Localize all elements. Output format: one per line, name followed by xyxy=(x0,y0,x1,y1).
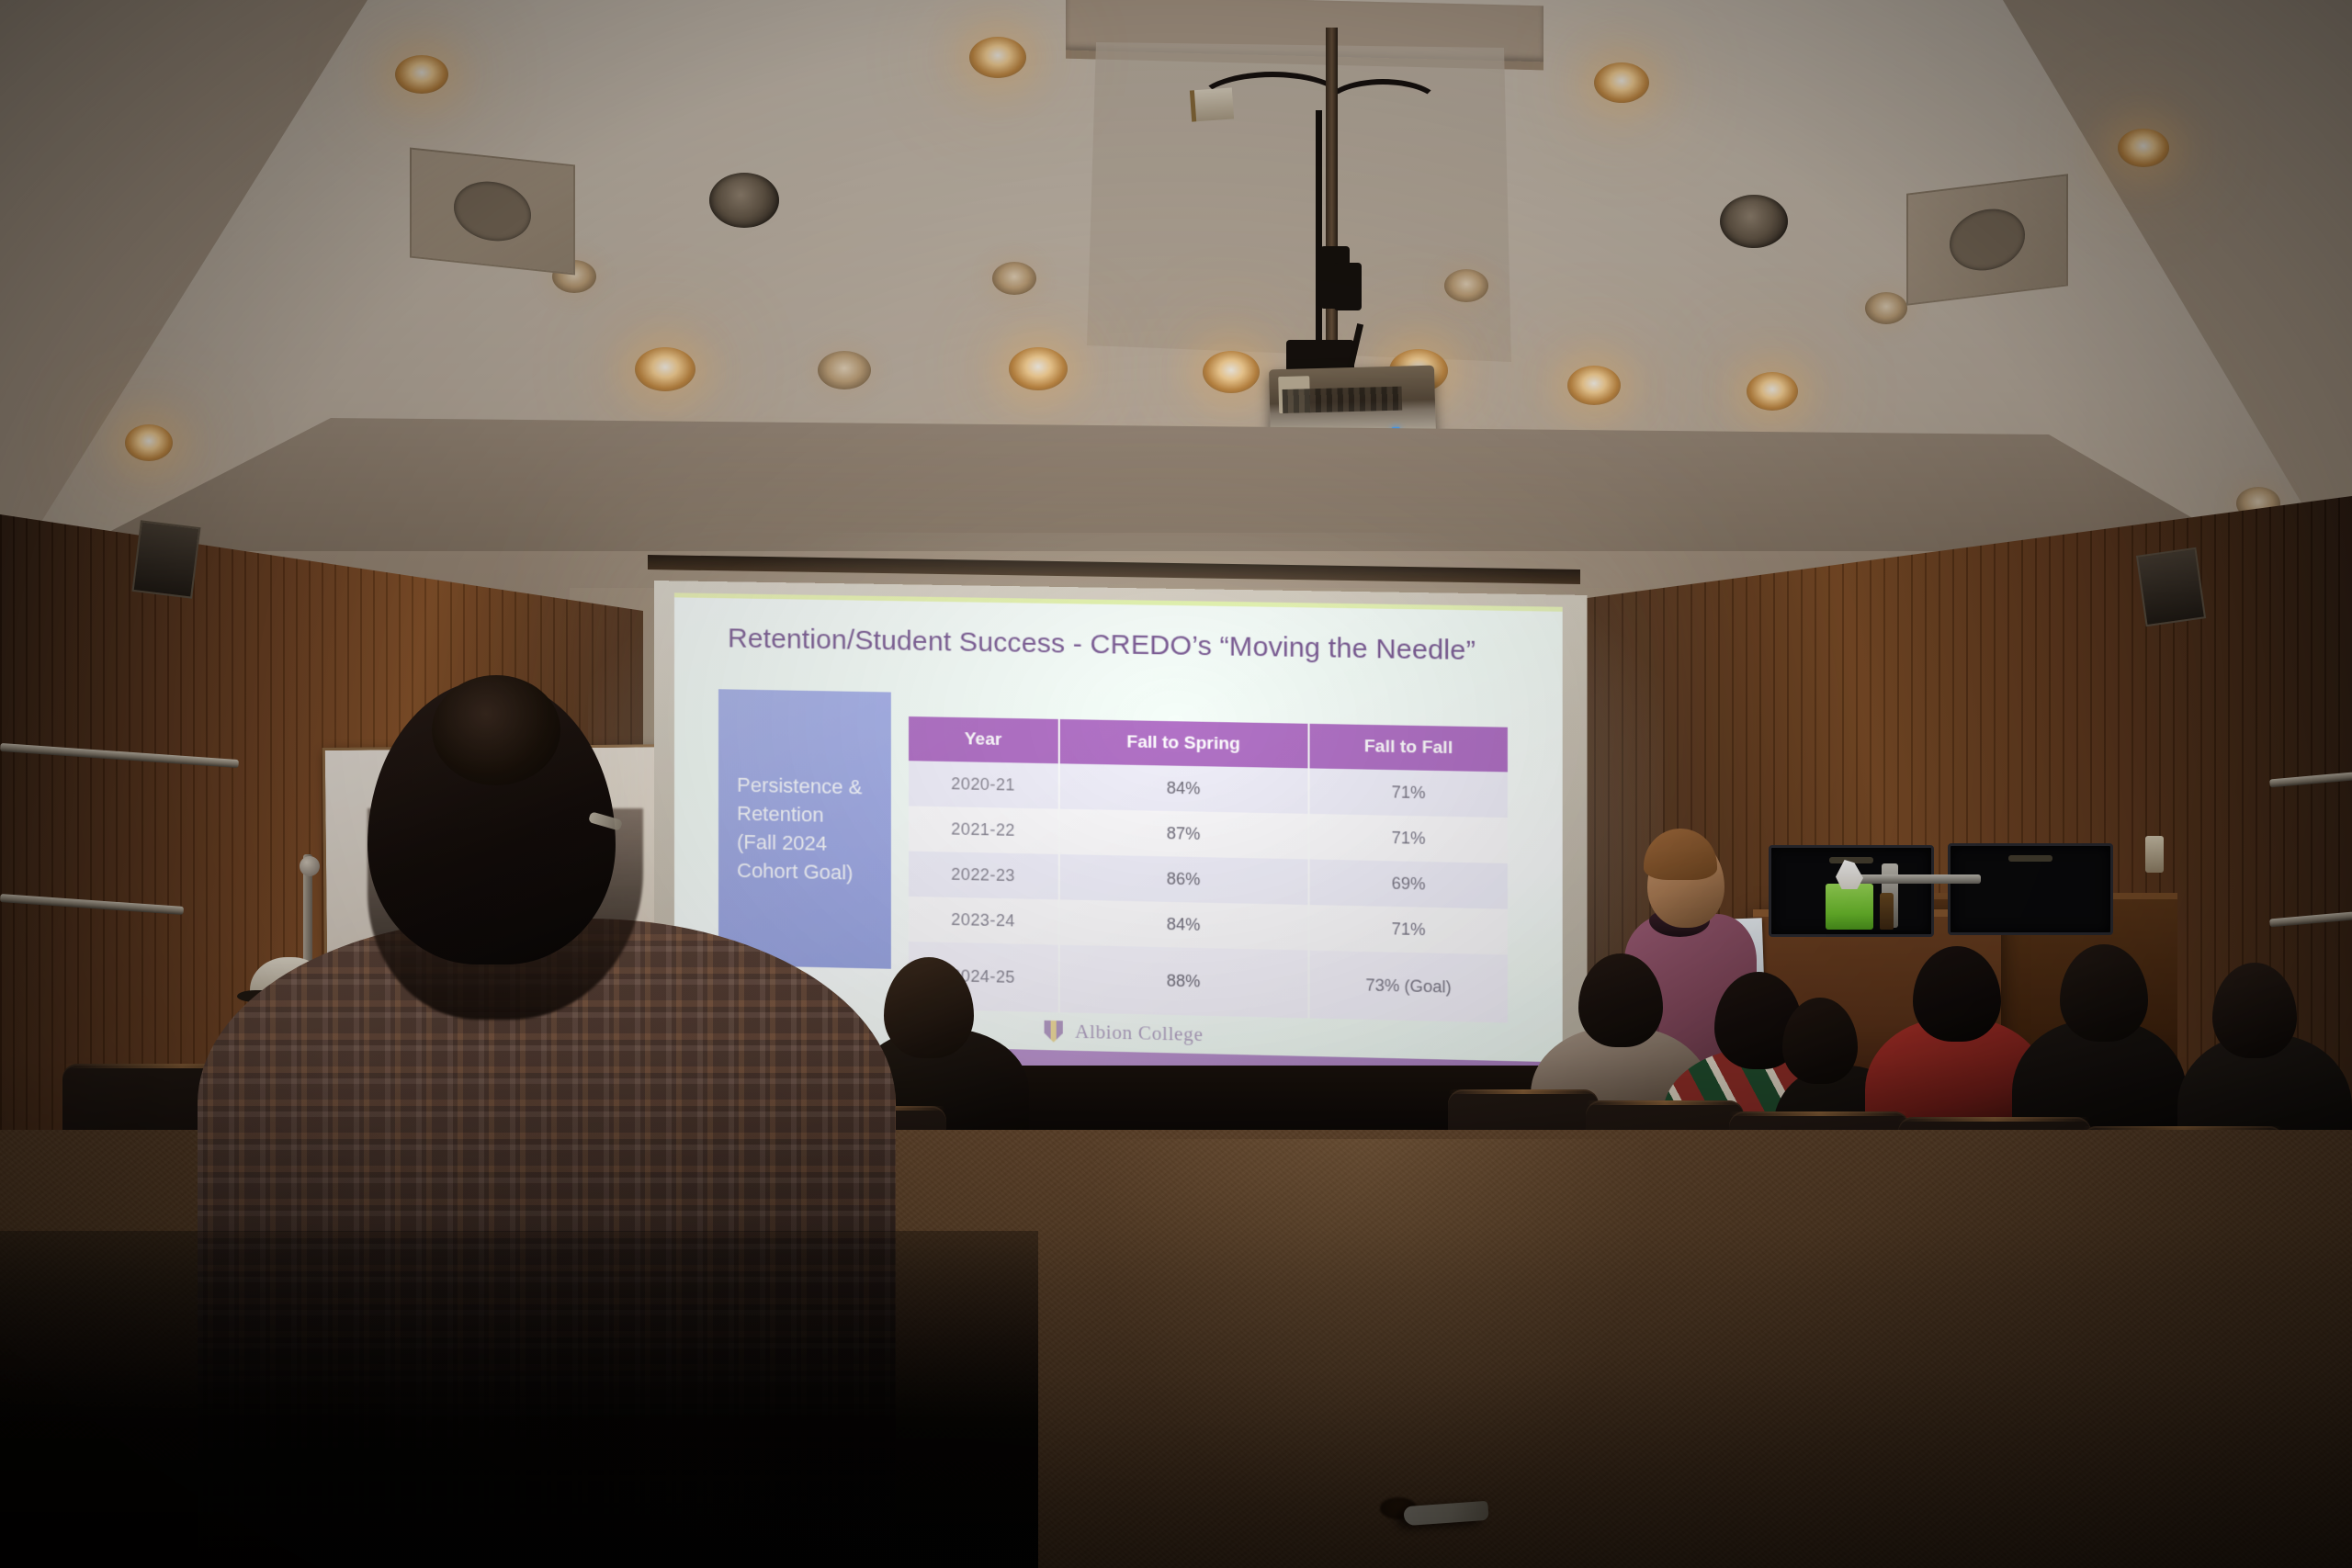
recessed-downlight xyxy=(969,37,1026,78)
slide-logo: Albion College xyxy=(1045,1020,1204,1046)
whiteboard-adjust-knob[interactable] xyxy=(300,856,320,876)
wall-light-switch[interactable] xyxy=(2145,836,2164,873)
cell-fall-to-fall: 71% xyxy=(1308,905,1508,954)
cell-year: 2022-23 xyxy=(909,852,1058,900)
foreground-person-hair-bun xyxy=(432,675,560,785)
cell-year: 2021-22 xyxy=(909,806,1058,854)
auditorium-scene: Retention/Student Success - CREDO’s “Mov… xyxy=(0,0,2352,1568)
side-panel-line-2: Retention xyxy=(737,799,862,830)
side-panel-line-4: Cohort Goal) xyxy=(737,856,862,887)
column-header-fall-to-spring: Fall to Spring xyxy=(1058,719,1308,768)
recessed-downlight xyxy=(1594,62,1649,103)
column-header-year: Year xyxy=(909,716,1058,763)
recessed-downlight xyxy=(395,55,448,94)
ceiling-speaker xyxy=(709,173,779,228)
side-panel-line-3: (Fall 2024 xyxy=(737,828,862,859)
recessed-downlight xyxy=(635,347,695,391)
ceiling-speaker xyxy=(1720,195,1788,248)
cell-fall-to-spring: 84% xyxy=(1058,899,1308,950)
tissue-box xyxy=(1826,884,1873,930)
aisle-light-pool xyxy=(1084,1139,1654,1543)
slide-side-panel: Persistence & Retention (Fall 2024 Cohor… xyxy=(718,689,891,969)
beverage-bottle xyxy=(1880,893,1894,930)
cell-fall-to-fall: 69% xyxy=(1308,859,1508,908)
table-row: 2024-25 88% 73% (Goal) xyxy=(909,942,1508,1022)
seat-top-highlight xyxy=(1586,1100,1744,1105)
albion-shield-icon xyxy=(1045,1020,1063,1043)
wall-speaker xyxy=(131,520,200,598)
ceiling-air-vent xyxy=(1906,174,2068,306)
projector-cable xyxy=(1323,79,1442,134)
recessed-downlight xyxy=(1865,292,1907,324)
recessed-downlight xyxy=(1009,347,1068,390)
ceiling-sensor-bracket xyxy=(1190,87,1234,121)
cell-fall-to-spring: 88% xyxy=(1058,945,1308,1019)
retention-data-table: Year Fall to Spring Fall to Fall 2020-21… xyxy=(909,716,1508,1022)
seat-top-highlight xyxy=(1898,1117,2091,1122)
projector-cable xyxy=(1316,110,1322,377)
monitor-arm xyxy=(1852,874,1981,884)
podium-monitor-right[interactable] xyxy=(1948,843,2113,935)
recessed-downlight xyxy=(1567,366,1621,405)
cell-fall-to-fall: 71% xyxy=(1308,814,1508,863)
wall-speaker xyxy=(2136,547,2206,626)
projector-vent xyxy=(1283,387,1403,413)
logo-wordmark: Albion College xyxy=(1075,1021,1204,1046)
projector-mount-pole xyxy=(1326,28,1338,386)
foreground-shadow-mask xyxy=(0,1231,1038,1568)
seat-top-highlight xyxy=(1729,1111,1909,1116)
recessed-downlight xyxy=(2118,129,2169,167)
cell-fall-to-spring: 86% xyxy=(1058,854,1308,905)
recessed-downlight xyxy=(125,424,173,461)
ceiling-air-vent xyxy=(410,148,575,276)
cell-fall-to-fall-goal: 73% (Goal) xyxy=(1308,951,1508,1023)
cell-year: 2023-24 xyxy=(909,897,1058,945)
column-header-fall-to-fall: Fall to Fall xyxy=(1308,724,1508,773)
recessed-downlight xyxy=(818,351,871,389)
side-panel-line-1: Persistence & xyxy=(737,770,862,801)
projector-junction-box xyxy=(1334,263,1362,310)
slide-title: Retention/Student Success - CREDO’s “Mov… xyxy=(728,623,1476,667)
cell-fall-to-spring: 84% xyxy=(1058,763,1308,814)
recessed-downlight xyxy=(1747,372,1798,411)
slide-side-panel-text: Persistence & Retention (Fall 2024 Cohor… xyxy=(718,770,880,888)
recessed-downlight xyxy=(1203,351,1260,393)
recessed-downlight xyxy=(1444,269,1488,302)
cell-fall-to-spring: 87% xyxy=(1058,809,1308,860)
seat-top-highlight xyxy=(1448,1089,1599,1094)
cell-year: 2020-21 xyxy=(909,761,1058,808)
cell-fall-to-fall: 71% xyxy=(1308,768,1508,818)
recessed-downlight xyxy=(992,262,1036,295)
